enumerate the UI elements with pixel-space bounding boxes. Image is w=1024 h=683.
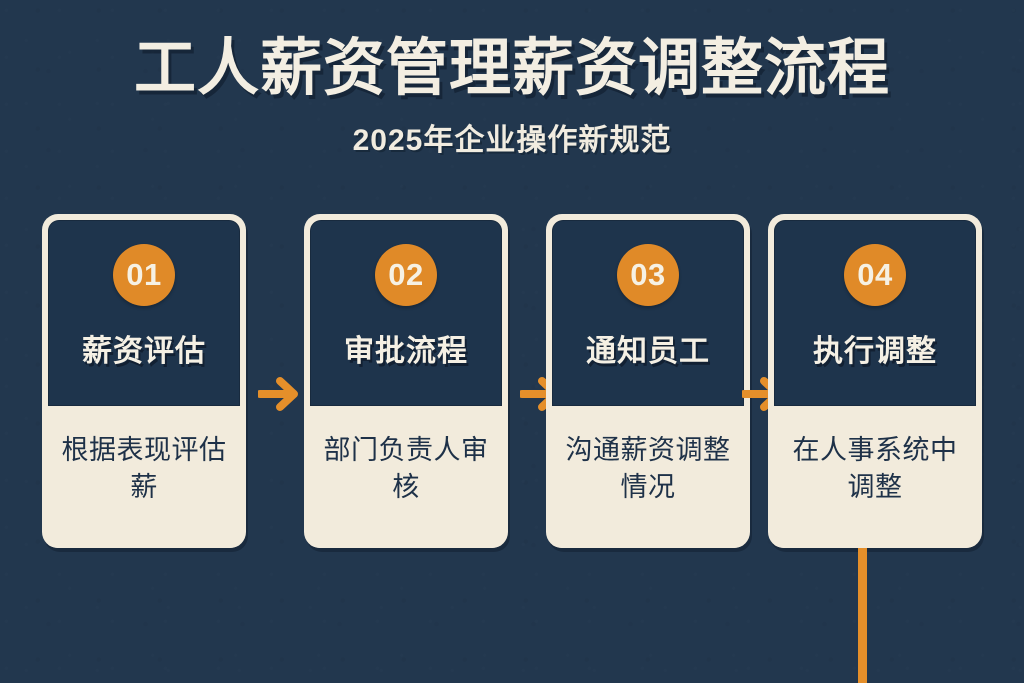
step-title-3: 通知员工	[586, 326, 710, 370]
step-number-badge-3: 03	[617, 244, 679, 306]
flow-continuation-line	[858, 548, 867, 683]
infographic-canvas: 工人薪资管理薪资调整流程 2025年企业操作新规范 01 薪资评估 根据表现评估…	[0, 0, 1024, 683]
step-card-3-body: 沟通薪资调整情况	[552, 406, 744, 548]
step-number-badge-1: 01	[113, 244, 175, 306]
step-card-2-body: 部门负责人审核	[310, 406, 502, 548]
step-card-4[interactable]: 04 执行调整 在人事系统中调整	[768, 214, 982, 548]
step-card-2-header: 02 审批流程	[310, 220, 502, 406]
page-title: 工人薪资管理薪资调整流程	[0, 34, 1024, 103]
header: 工人薪资管理薪资调整流程 2025年企业操作新规范	[0, 34, 1024, 159]
step-card-4-body: 在人事系统中调整	[774, 406, 976, 548]
arrow-right-icon	[258, 374, 302, 414]
step-title-2: 审批流程	[344, 326, 468, 370]
step-title-4: 执行调整	[813, 326, 937, 370]
step-card-1-body: 根据表现评估薪	[48, 406, 240, 548]
step-card-2[interactable]: 02 审批流程 部门负责人审核	[304, 214, 508, 548]
step-number-badge-2: 02	[375, 244, 437, 306]
step-description-1: 根据表现评估薪	[54, 432, 234, 505]
step-description-4: 在人事系统中调整	[785, 432, 965, 505]
page-subtitle: 2025年企业操作新规范	[0, 115, 1024, 159]
step-card-4-header: 04 执行调整	[774, 220, 976, 406]
step-card-3-header: 03 通知员工	[552, 220, 744, 406]
step-title-1: 薪资评估	[82, 326, 206, 370]
step-description-2: 部门负责人审核	[316, 432, 496, 505]
process-flow: 01 薪资评估 根据表现评估薪 02 审批流程 部门负责人审核	[42, 214, 982, 548]
step-card-3[interactable]: 03 通知员工 沟通薪资调整情况	[546, 214, 750, 548]
step-card-1-header: 01 薪资评估	[48, 220, 240, 406]
step-number-badge-4: 04	[844, 244, 906, 306]
step-description-3: 沟通薪资调整情况	[558, 432, 738, 505]
step-card-1[interactable]: 01 薪资评估 根据表现评估薪	[42, 214, 246, 548]
